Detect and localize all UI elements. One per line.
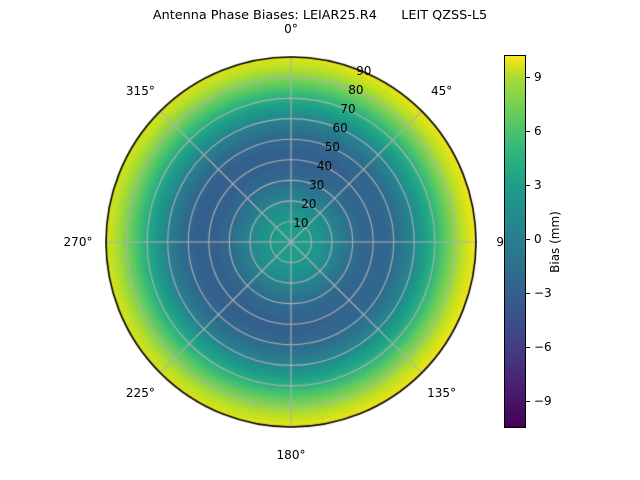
theta-tick-label-45: 45° (431, 84, 452, 98)
colorbar-axis-label: Bias (mm) (548, 211, 562, 273)
colorbar-tick-0 (526, 239, 530, 240)
polar-axes[interactable]: 0°45°90135°180°225°270°315°1020304050607… (105, 56, 477, 428)
polar-contour-plot (105, 56, 477, 428)
theta-tick-label-0: 0° (284, 22, 298, 36)
colorbar-tick-label-9: 9 (534, 70, 542, 84)
colorbar-tick-label--9: −9 (534, 394, 552, 408)
theta-tick-label-180: 180° (277, 448, 306, 462)
colorbar[interactable]: 9630−3−6−9 (504, 55, 526, 428)
page-title: Antenna Phase Biases: LEIAR25.R4 LEIT QZ… (0, 8, 640, 23)
colorbar-tick-9 (526, 77, 530, 78)
theta-tick-label-135: 135° (427, 386, 456, 400)
colorbar-tick-label-3: 3 (534, 178, 542, 192)
theta-tick-label-270: 270° (64, 235, 93, 249)
r-tick-label-10: 10 (293, 216, 308, 230)
r-tick-label-90: 90 (356, 64, 371, 78)
r-tick-label-20: 20 (301, 197, 316, 211)
colorbar-tick-label-0: 0 (534, 232, 542, 246)
r-tick-label-50: 50 (325, 140, 340, 154)
figure-canvas: Antenna Phase Biases: LEIAR25.R4 LEIT QZ… (0, 0, 640, 480)
r-tick-label-80: 80 (348, 83, 363, 97)
r-tick-label-70: 70 (340, 102, 355, 116)
r-tick-label-30: 30 (309, 178, 324, 192)
colorbar-tick--6 (526, 347, 530, 348)
colorbar-tick-label--6: −6 (534, 340, 552, 354)
colorbar-gradient (504, 55, 526, 428)
colorbar-tick--9 (526, 401, 530, 402)
r-tick-label-60: 60 (333, 121, 348, 135)
r-tick-label-40: 40 (317, 159, 332, 173)
theta-tick-label-315: 315° (126, 84, 155, 98)
colorbar-tick-label-6: 6 (534, 124, 542, 138)
colorbar-tick-6 (526, 131, 530, 132)
theta-tick-label-225: 225° (126, 386, 155, 400)
colorbar-tick-3 (526, 185, 530, 186)
colorbar-tick--3 (526, 293, 530, 294)
colorbar-tick-label--3: −3 (534, 286, 552, 300)
